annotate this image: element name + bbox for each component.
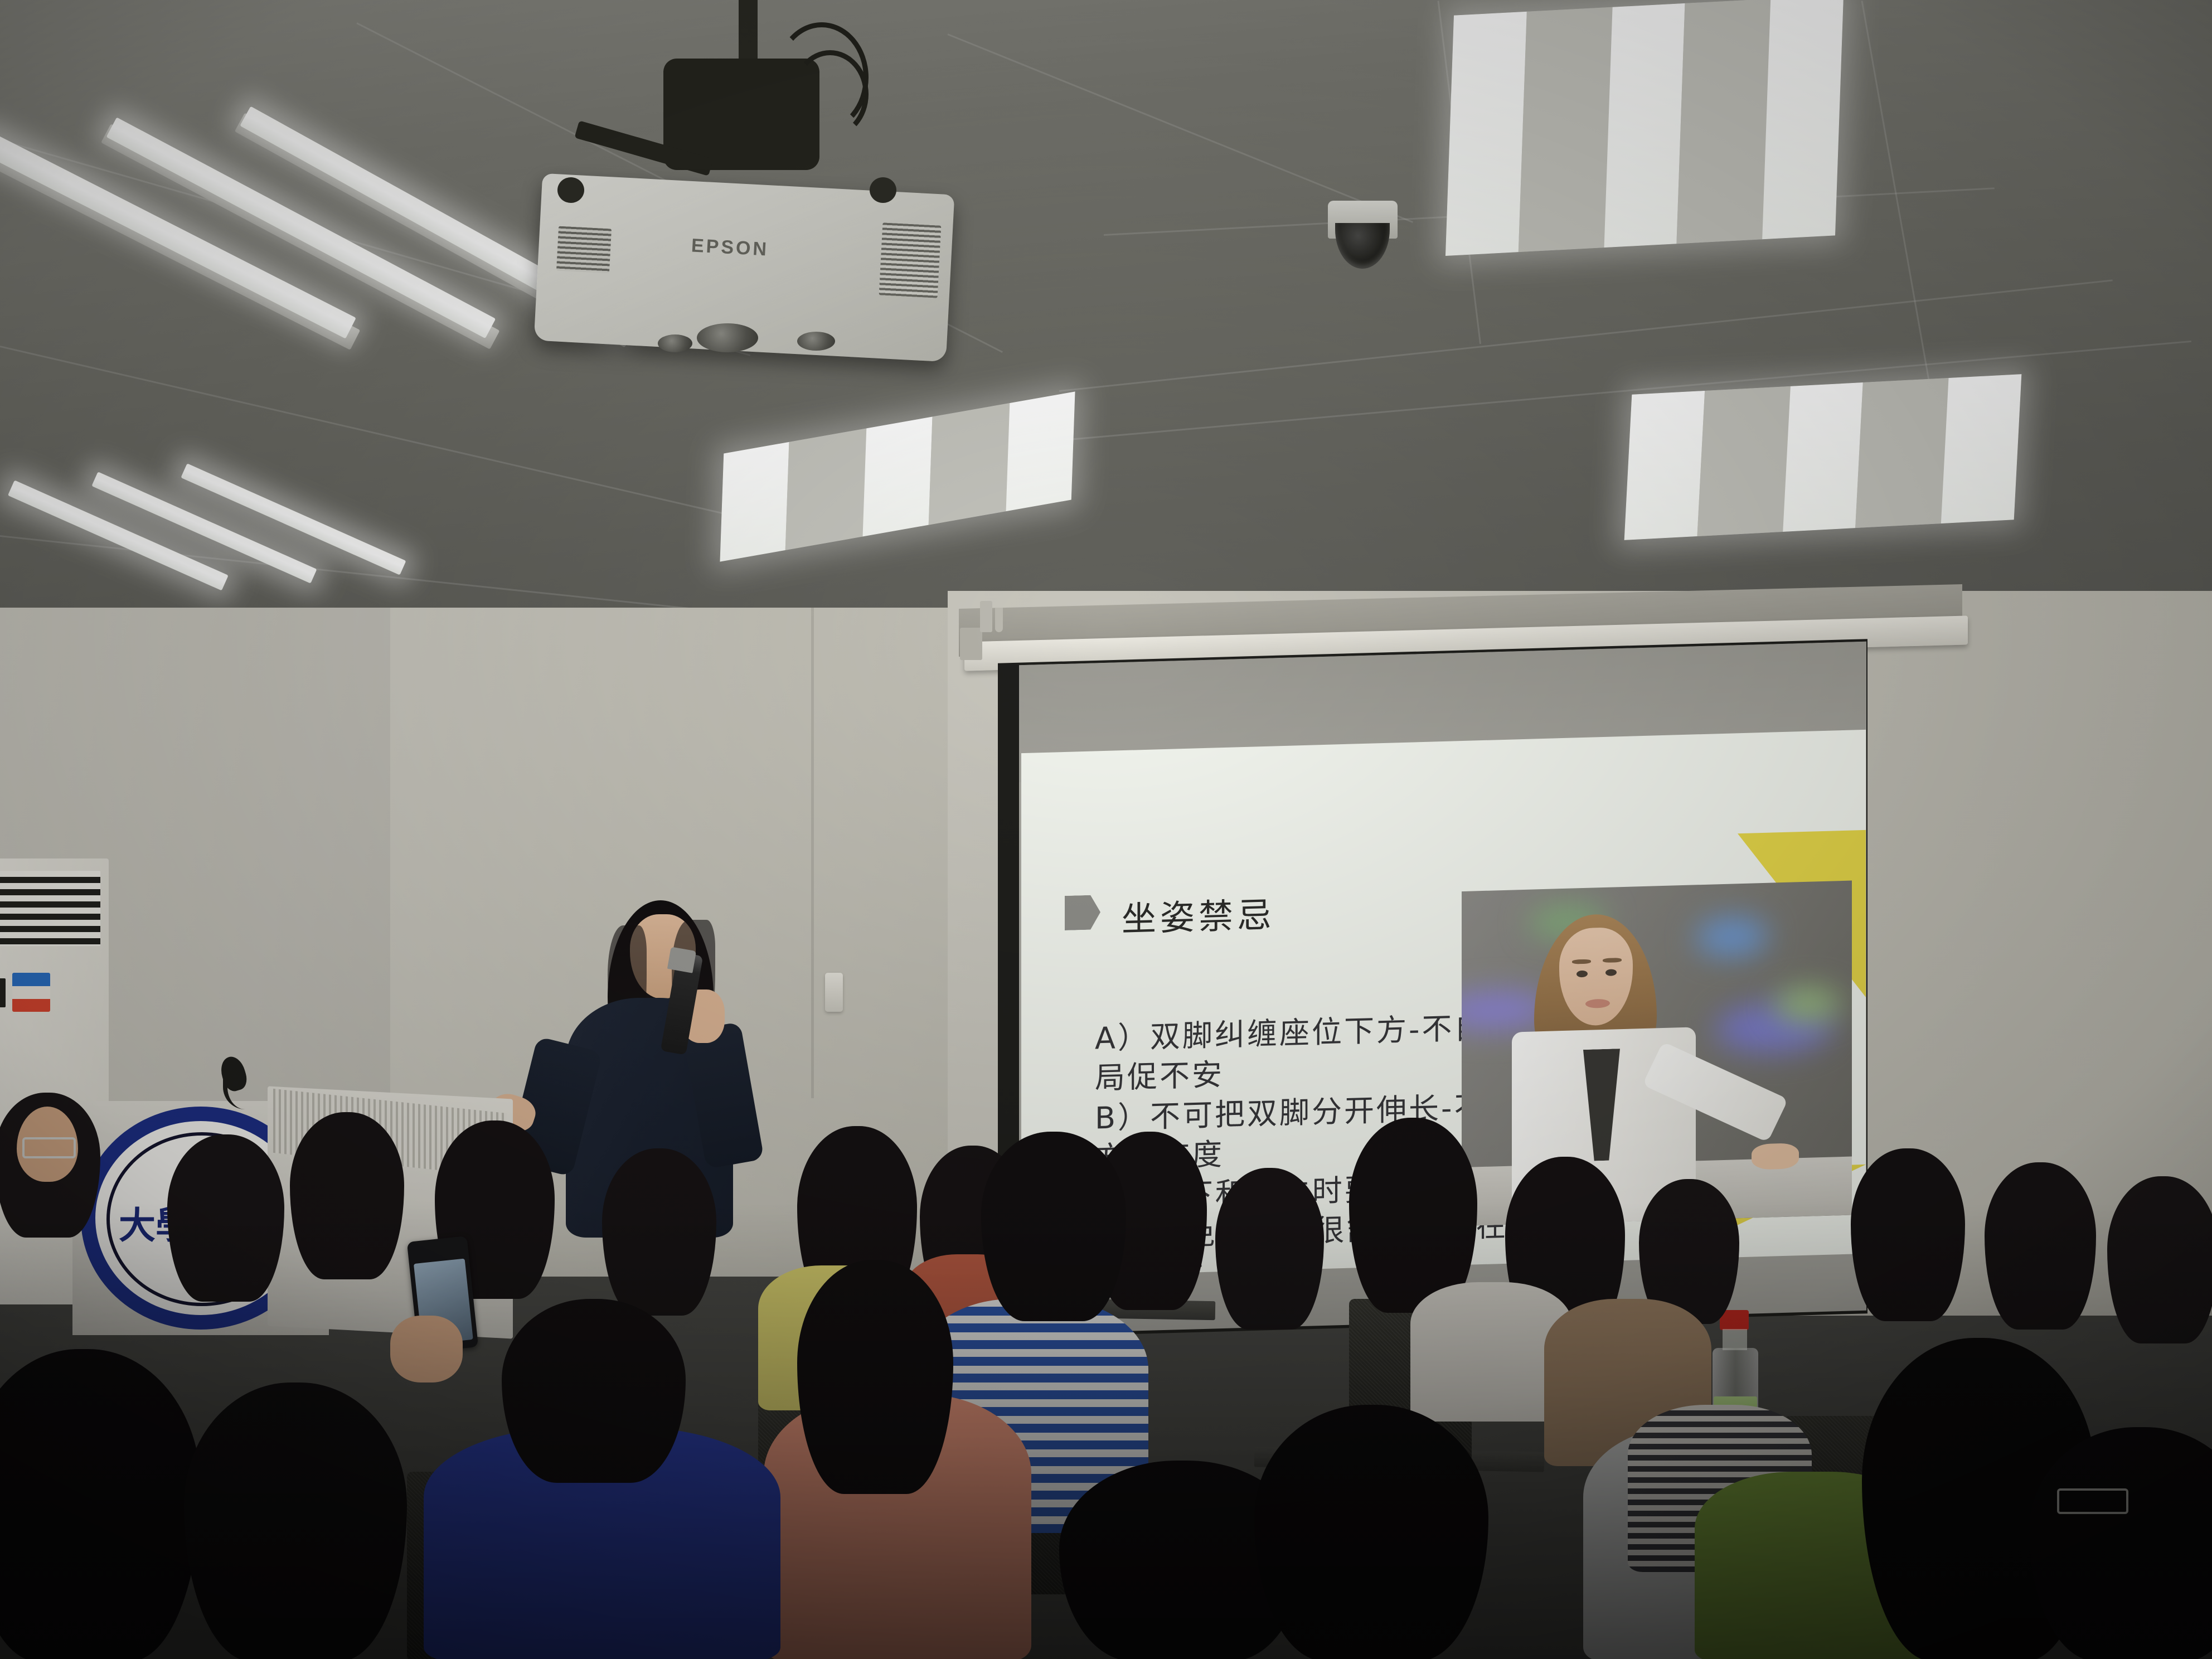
projector-lens: [697, 323, 758, 352]
audience-head: [602, 1148, 716, 1316]
slide-bullet-marker-icon: [1065, 895, 1100, 930]
eyeglasses: [2057, 1488, 2128, 1514]
projector-vent-left: [556, 226, 612, 274]
air-conditioner-energy-label: [12, 973, 50, 1012]
microphone-head: [667, 947, 696, 973]
recessed-light-panel: [1624, 374, 2022, 540]
foreground-head-silhouette: [184, 1382, 407, 1659]
projector-adjust-foot: [797, 332, 835, 351]
wall-mounted-bracket: [825, 973, 843, 1012]
projector-vent-right: [879, 222, 942, 298]
projector-foot: [557, 177, 584, 203]
foreground-head-silhouette: [1254, 1405, 1488, 1659]
audience-head: [981, 1132, 1126, 1321]
slide-title: 坐姿禁忌: [1122, 886, 1275, 941]
anchor-hand: [1752, 1143, 1799, 1170]
screen-ceiling-hook: [995, 608, 1003, 632]
audience-head: [502, 1299, 686, 1483]
audience-head: [290, 1112, 404, 1279]
audience-head: [1985, 1162, 2096, 1330]
wall-seam: [811, 608, 814, 1098]
foreground-head-silhouette: [0, 1349, 201, 1659]
slide-embedded-photo: [1462, 881, 1852, 1226]
recessed-light-panel: [1445, 0, 1844, 256]
screen-roller-end-cap: [960, 628, 982, 660]
projector-adjust-foot: [658, 334, 692, 352]
projector-brand-label: EPSON: [691, 235, 769, 260]
lecture-hall-photo: EPSON 坐姿禁忌 A）双脚纠缠座位下方-不自信引起: [0, 0, 2212, 1659]
audience-head: [797, 1260, 953, 1494]
foreground-head-silhouette: [2029, 1427, 2212, 1659]
air-conditioner-display: [0, 978, 6, 1007]
bottle-neck: [1723, 1329, 1747, 1350]
audience-head: [2107, 1176, 2212, 1343]
projector-cable: [792, 50, 869, 138]
air-conditioner-grille: [0, 871, 100, 946]
screen-ceiling-hook: [980, 601, 992, 632]
projector-foot: [870, 177, 896, 203]
audience-head: [1851, 1148, 1965, 1321]
audience-head: [1215, 1168, 1324, 1330]
audience-head: [167, 1134, 284, 1302]
hand-holding-phone: [390, 1316, 463, 1382]
studio-light-glow: [1696, 916, 1768, 958]
eyeglasses: [22, 1137, 76, 1158]
studio-light-glow: [1774, 987, 1841, 1022]
